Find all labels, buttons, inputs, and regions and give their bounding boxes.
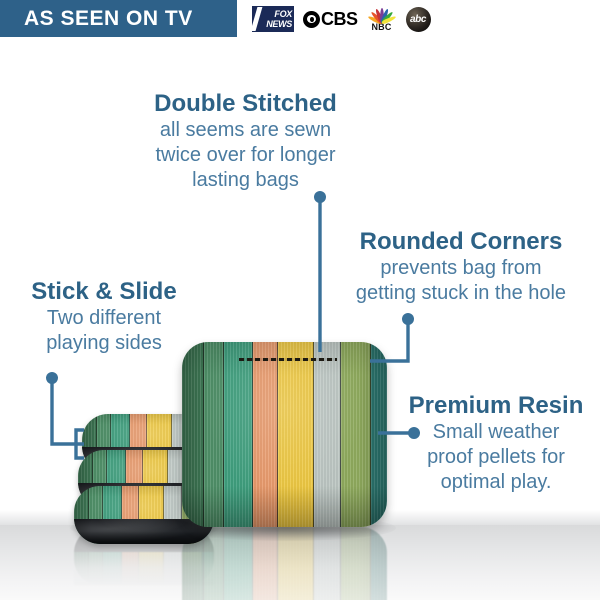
callout-body-line-3: optimal play. bbox=[398, 470, 594, 495]
callout-body-line-2: proof pellets for bbox=[398, 445, 594, 470]
callout-body-line-1: all seems are sewn bbox=[118, 118, 373, 143]
callout-title-stick-and-slide: Stick & Slide bbox=[6, 278, 202, 306]
callout-body-line-2: getting stuck in the hole bbox=[330, 281, 592, 306]
callout-rounded-corners: Rounded Corners prevents bag from gettin… bbox=[330, 228, 592, 306]
product-feature-graphic: AS SEEN ON TV FOX NEWS CBS NBC abc bbox=[0, 0, 600, 600]
callout-title-double-stitched: Double Stitched bbox=[118, 90, 373, 118]
callout-body-line-2: twice over for longer bbox=[118, 143, 373, 168]
callout-title-rounded-corners: Rounded Corners bbox=[330, 228, 592, 256]
callout-stick-and-slide: Stick & Slide Two different playing side… bbox=[6, 278, 202, 356]
callout-double-stitched: Double Stitched all seems are sewn twice… bbox=[118, 90, 373, 193]
callout-body-line-1: Two different bbox=[6, 306, 202, 331]
connector-dot-rounded-corners bbox=[402, 313, 414, 325]
callout-body-line-3: lasting bags bbox=[118, 168, 373, 193]
callout-title-premium-resin: Premium Resin bbox=[398, 392, 594, 420]
callout-body-line-1: Small weather bbox=[398, 420, 594, 445]
connector-line-stick-slide bbox=[52, 381, 84, 444]
callout-premium-resin: Premium Resin Small weather proof pellet… bbox=[398, 392, 594, 495]
callout-body-line-1: prevents bag from bbox=[330, 256, 592, 281]
connector-line-rounded-corners bbox=[370, 322, 408, 361]
callout-body-line-2: playing sides bbox=[6, 331, 202, 356]
connector-dot-stick-slide bbox=[46, 372, 58, 384]
